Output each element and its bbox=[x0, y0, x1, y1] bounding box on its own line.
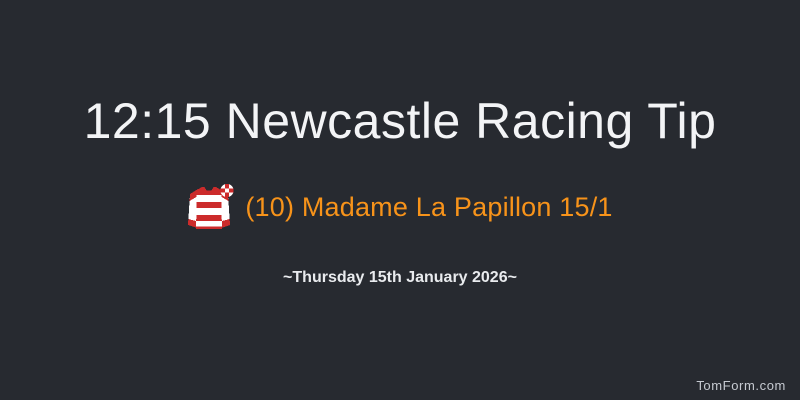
race-date: ~Thursday 15th January 2026~ bbox=[0, 270, 800, 286]
page-title: 12:15 Newcastle Racing Tip bbox=[0, 96, 800, 146]
tip-selection-row: (10) Madame La Papillon 15/1 bbox=[0, 181, 800, 233]
jockey-silk-icon bbox=[187, 181, 235, 233]
tip-card: 12:15 Newcastle Racing Tip bbox=[0, 0, 800, 400]
tip-selection-text: (10) Madame La Papillon 15/1 bbox=[245, 194, 612, 221]
site-watermark: TomForm.com bbox=[696, 379, 786, 392]
